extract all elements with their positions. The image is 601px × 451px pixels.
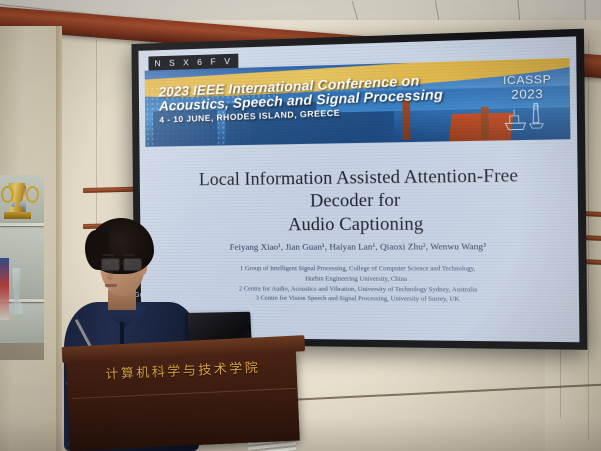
trophy-handle-right — [26, 186, 39, 203]
presenter-eyeglass-bridge — [118, 263, 124, 264]
conference-room-photo: 2023 IEEE International Conference on Ac… — [0, 0, 601, 451]
trophy-handle-left — [1, 186, 14, 203]
banner-clocktower — [481, 107, 489, 139]
screen-watermark: N S X 6 F V — [148, 54, 238, 71]
presenter-eyebrow-right — [123, 254, 135, 256]
slide-title-line-1: Local Information Assisted Attention-Fre… — [168, 163, 554, 214]
presenter-shirt-logo: Gug — [134, 292, 148, 301]
affiliation-line: 3 Centre for Vision Speech and Signal Pr… — [175, 293, 548, 305]
slide-authors: Feiyang Xiao¹, Jian Guan¹, Haiyan Lan¹, … — [174, 241, 547, 252]
icassp-logo: ICASSP 2023 — [492, 73, 564, 136]
presenter-nose — [107, 270, 113, 280]
slide-affiliations: 1 Group of Intelligent Signal Processing… — [175, 264, 548, 306]
icassp-logo-year: 2023 — [492, 86, 564, 103]
award-ribbon — [0, 258, 9, 320]
icassp-banner: 2023 IEEE International Conference on Ac… — [145, 58, 571, 147]
presenter-mouth — [105, 284, 117, 287]
presenter-eyebrow-left — [102, 254, 114, 256]
presenter-eyeglass-right — [123, 258, 142, 271]
trophy-base-plate — [4, 212, 31, 219]
lighthouse-ship-icon — [501, 101, 555, 134]
